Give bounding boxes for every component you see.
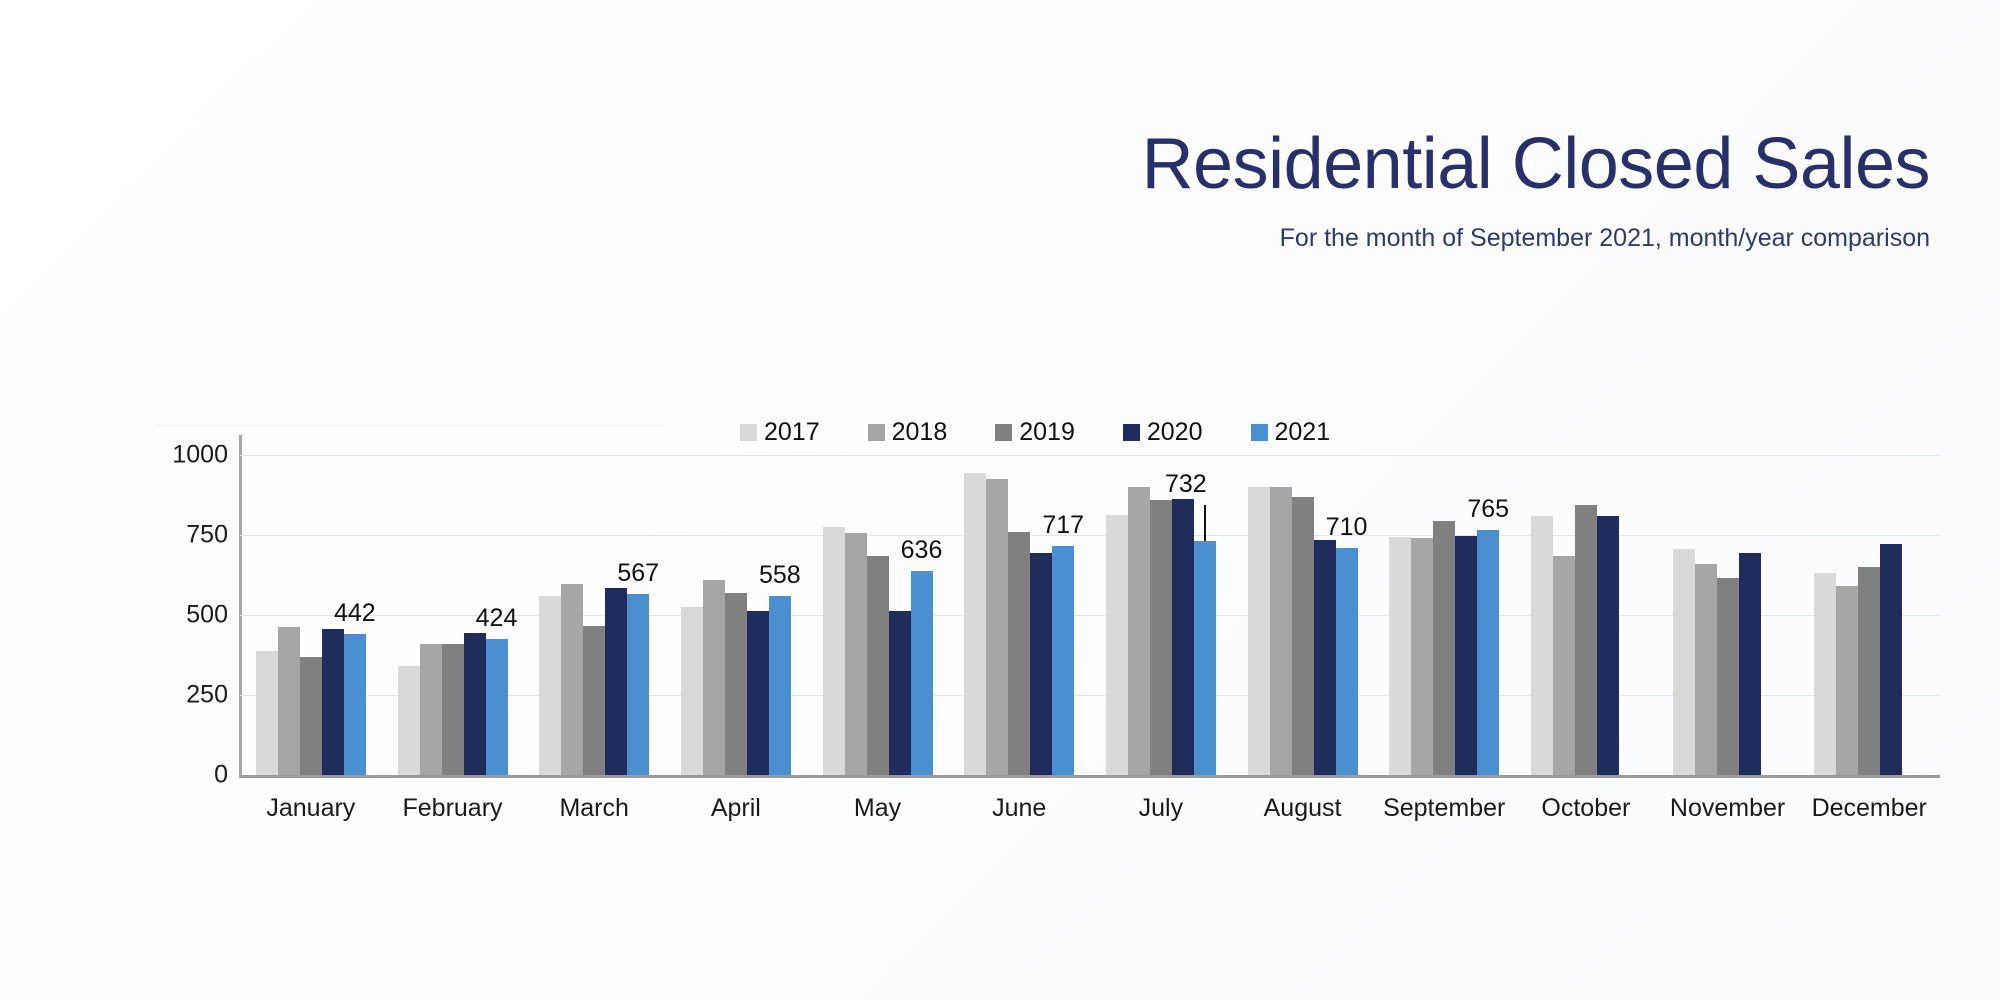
- data-label-july: 732: [1165, 472, 1207, 497]
- bar-2019-november[interactable]: [1717, 578, 1739, 775]
- bar-2019-march[interactable]: [583, 626, 605, 775]
- bar-2020-march[interactable]: [605, 588, 627, 775]
- bar-2018-february[interactable]: [420, 644, 442, 775]
- bar-2020-august[interactable]: [1314, 540, 1336, 775]
- x-axis-labels: JanuaryFebruaryMarchAprilMayJuneJulyAugu…: [240, 794, 1940, 823]
- data-label-february: 424: [476, 606, 518, 631]
- bar-2019-july[interactable]: [1150, 500, 1172, 775]
- x-label-february: February: [382, 794, 524, 823]
- legend-label: 2019: [1019, 420, 1075, 445]
- bar-group-august: 710: [1232, 455, 1374, 775]
- y-tick-label-1000: 1000: [148, 441, 228, 470]
- data-label-september: 765: [1467, 497, 1509, 522]
- bar-2017-october[interactable]: [1531, 516, 1553, 775]
- bar-group-november: [1657, 455, 1799, 775]
- chart-legend: 20172018201920202021: [740, 420, 1330, 445]
- bar-2020-november[interactable]: [1739, 553, 1761, 775]
- bar-chart: 20172018201920202021 10007505002500 4424…: [150, 420, 1850, 880]
- data-label-january: 442: [334, 601, 376, 626]
- legend-swatch-icon: [1123, 424, 1140, 441]
- bar-group-march: 567: [523, 455, 665, 775]
- bar-2020-june[interactable]: [1030, 553, 1052, 775]
- x-label-december: December: [1798, 794, 1940, 823]
- bar-2017-july[interactable]: [1106, 515, 1128, 775]
- legend-item-2018[interactable]: 2018: [868, 420, 948, 445]
- x-label-april: April: [665, 794, 807, 823]
- bar-2017-march[interactable]: [539, 596, 561, 775]
- bar-2018-december[interactable]: [1836, 586, 1858, 775]
- legend-item-2017[interactable]: 2017: [740, 420, 820, 445]
- header: Residential Closed Sales For the month o…: [630, 128, 1930, 253]
- bar-2021-july[interactable]: 732: [1194, 541, 1216, 775]
- bar-group-july: 732: [1090, 455, 1232, 775]
- bar-2020-july[interactable]: [1172, 499, 1194, 775]
- y-tick-label-250: 250: [148, 681, 228, 710]
- legend-swatch-icon: [868, 424, 885, 441]
- legend-label: 2018: [892, 420, 948, 445]
- x-label-july: July: [1090, 794, 1232, 823]
- x-label-november: November: [1657, 794, 1799, 823]
- page-subtitle: For the month of September 2021, month/y…: [630, 224, 1930, 253]
- bar-2017-may[interactable]: [823, 527, 845, 775]
- bar-2020-december[interactable]: [1880, 544, 1902, 775]
- bar-2019-april[interactable]: [725, 593, 747, 775]
- bar-2021-september[interactable]: 765: [1477, 530, 1499, 775]
- bar-2019-december[interactable]: [1858, 567, 1880, 775]
- slide-canvas: Residential Closed Sales For the month o…: [0, 0, 2000, 1000]
- legend-swatch-icon: [740, 424, 757, 441]
- bar-groups: 442424567558636717732710765: [240, 455, 1940, 775]
- data-label-august: 710: [1326, 515, 1368, 540]
- bar-group-january: 442: [240, 455, 382, 775]
- bar-2020-september[interactable]: [1455, 536, 1477, 775]
- x-label-march: March: [523, 794, 665, 823]
- bar-2021-january[interactable]: 442: [344, 634, 366, 775]
- bar-group-february: 424: [382, 455, 524, 775]
- bar-2017-june[interactable]: [964, 473, 986, 775]
- bar-2018-june[interactable]: [986, 479, 1008, 775]
- legend-label: 2021: [1275, 420, 1331, 445]
- bar-2021-may[interactable]: 636: [911, 571, 933, 775]
- plot-inner: 442424567558636717732710765: [240, 455, 1940, 775]
- bar-2021-february[interactable]: 424: [486, 639, 508, 775]
- bar-2019-june[interactable]: [1008, 532, 1030, 775]
- bar-2021-june[interactable]: 717: [1052, 546, 1074, 775]
- legend-item-2021[interactable]: 2021: [1251, 420, 1331, 445]
- y-tick-label-0: 0: [148, 761, 228, 790]
- bar-2017-december[interactable]: [1814, 573, 1836, 775]
- x-label-january: January: [240, 794, 382, 823]
- y-tick-label-500: 500: [148, 601, 228, 630]
- x-label-september: September: [1373, 794, 1515, 823]
- page-title: Residential Closed Sales: [630, 128, 1930, 200]
- bar-group-october: [1515, 455, 1657, 775]
- bar-2020-april[interactable]: [747, 611, 769, 775]
- gridline-0: [240, 775, 1940, 778]
- bar-2020-october[interactable]: [1597, 516, 1619, 775]
- legend-swatch-icon: [995, 424, 1012, 441]
- bar-group-april: 558: [665, 455, 807, 775]
- bar-2017-august[interactable]: [1248, 487, 1270, 775]
- bar-2017-january[interactable]: [256, 651, 278, 775]
- bar-2017-september[interactable]: [1389, 537, 1411, 775]
- legend-swatch-icon: [1251, 424, 1268, 441]
- x-label-may: May: [807, 794, 949, 823]
- data-label-may: 636: [901, 538, 943, 563]
- bar-2017-february[interactable]: [398, 666, 420, 775]
- bar-2017-april[interactable]: [681, 607, 703, 775]
- bar-2019-september[interactable]: [1433, 521, 1455, 775]
- x-label-august: August: [1232, 794, 1374, 823]
- bar-2019-february[interactable]: [442, 644, 464, 775]
- legend-label: 2017: [764, 420, 820, 445]
- bar-group-december: [1798, 455, 1940, 775]
- plot-area: 442424567558636717732710765: [240, 455, 1990, 775]
- data-label-march: 567: [617, 561, 659, 586]
- bar-2020-january[interactable]: [322, 629, 344, 775]
- legend-item-2020[interactable]: 2020: [1123, 420, 1203, 445]
- data-label-june: 717: [1042, 513, 1084, 538]
- bar-2021-august[interactable]: 710: [1336, 548, 1358, 775]
- bar-2018-august[interactable]: [1270, 487, 1292, 775]
- bar-2018-november[interactable]: [1695, 564, 1717, 775]
- bar-group-september: 765: [1373, 455, 1515, 775]
- bar-2018-april[interactable]: [703, 580, 725, 775]
- bar-2021-march[interactable]: 567: [627, 594, 649, 775]
- bar-group-may: 636: [807, 455, 949, 775]
- bar-2019-january[interactable]: [300, 657, 322, 775]
- bar-2020-february[interactable]: [464, 633, 486, 775]
- bar-2018-january[interactable]: [278, 627, 300, 775]
- legend-item-2019[interactable]: 2019: [995, 420, 1075, 445]
- bar-2018-october[interactable]: [1553, 556, 1575, 775]
- bar-2018-march[interactable]: [561, 584, 583, 775]
- bar-2020-may[interactable]: [889, 611, 911, 775]
- y-axis-ticks: 10007505002500: [150, 455, 228, 775]
- data-label-april: 558: [759, 563, 801, 588]
- bar-2021-april[interactable]: 558: [769, 596, 791, 775]
- bar-2017-november[interactable]: [1673, 549, 1695, 775]
- bar-2018-september[interactable]: [1411, 538, 1433, 775]
- bar-2019-october[interactable]: [1575, 505, 1597, 775]
- bar-2018-may[interactable]: [845, 533, 867, 775]
- legend-label: 2020: [1147, 420, 1203, 445]
- bar-2019-august[interactable]: [1292, 497, 1314, 775]
- y-tick-label-750: 750: [148, 521, 228, 550]
- x-label-october: October: [1515, 794, 1657, 823]
- bar-2019-may[interactable]: [867, 556, 889, 775]
- bar-2018-july[interactable]: [1128, 487, 1150, 775]
- x-label-june: June: [948, 794, 1090, 823]
- data-label-leader-line: [1204, 505, 1206, 541]
- plot-top-edge: [155, 425, 665, 426]
- bar-group-june: 717: [948, 455, 1090, 775]
